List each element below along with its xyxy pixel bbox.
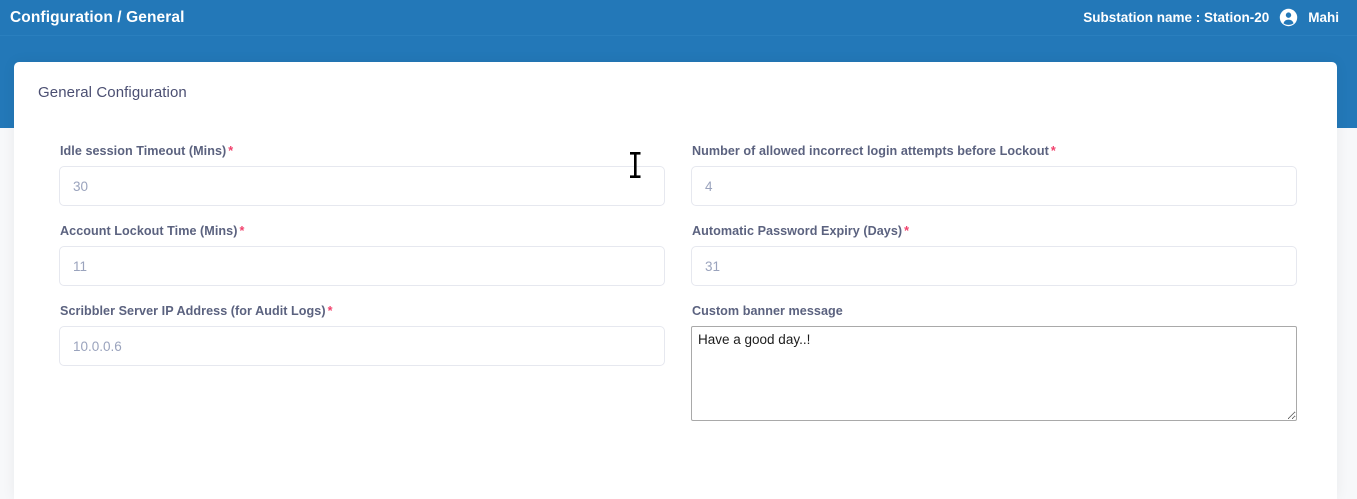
required-marker: * [904,224,909,238]
general-configuration-card: General Configuration Idle session Timeo… [14,62,1337,499]
required-marker: * [328,304,333,318]
password-expiry-input[interactable] [691,246,1297,286]
required-marker: * [228,144,233,158]
form-row: Account Lockout Time (Mins)* Automatic P… [59,224,1309,286]
field-scribbler-server-ip: Scribbler Server IP Address (for Audit L… [59,304,665,421]
form-row: Scribbler Server IP Address (for Audit L… [59,304,1309,421]
field-password-expiry: Automatic Password Expiry (Days)* [691,224,1297,286]
substation-name-label: Substation name : Station-20 [1083,10,1269,25]
field-label-text: Automatic Password Expiry (Days) [692,224,902,238]
field-label: Custom banner message [692,304,1297,318]
field-label: Number of allowed incorrect login attemp… [692,144,1297,158]
required-marker: * [239,224,244,238]
field-label-text: Number of allowed incorrect login attemp… [692,144,1049,158]
form-row: Idle session Timeout (Mins)* Number of a… [59,144,1309,206]
field-label: Idle session Timeout (Mins)* [60,144,665,158]
field-label-text: Account Lockout Time (Mins) [60,224,237,238]
user-name-label[interactable]: Mahi [1308,10,1339,25]
breadcrumb: Configuration / General [10,9,185,27]
account-lockout-time-input[interactable] [59,246,665,286]
field-label-text: Idle session Timeout (Mins) [60,144,226,158]
general-configuration-form: Idle session Timeout (Mins)* Number of a… [59,144,1309,439]
app-root: Configuration / General Substation name … [0,0,1357,499]
field-label: Scribbler Server IP Address (for Audit L… [60,304,665,318]
idle-session-timeout-input[interactable] [59,166,665,206]
field-custom-banner-message: Custom banner message [691,304,1297,421]
field-label: Account Lockout Time (Mins)* [60,224,665,238]
field-label-text: Custom banner message [692,304,843,318]
login-attempts-input[interactable] [691,166,1297,206]
scribbler-server-ip-input[interactable] [59,326,665,366]
field-account-lockout-time: Account Lockout Time (Mins)* [59,224,665,286]
user-circle-icon[interactable] [1279,8,1298,27]
custom-banner-message-textarea[interactable] [691,326,1297,421]
page-title: General Configuration [38,84,187,101]
required-marker: * [1051,144,1056,158]
top-navbar: Configuration / General Substation name … [0,0,1357,36]
field-label-text: Scribbler Server IP Address (for Audit L… [60,304,326,318]
field-label: Automatic Password Expiry (Days)* [692,224,1297,238]
field-idle-session-timeout: Idle session Timeout (Mins)* [59,144,665,206]
field-login-attempts: Number of allowed incorrect login attemp… [691,144,1297,206]
header-right-group: Substation name : Station-20 Mahi [1083,8,1339,27]
